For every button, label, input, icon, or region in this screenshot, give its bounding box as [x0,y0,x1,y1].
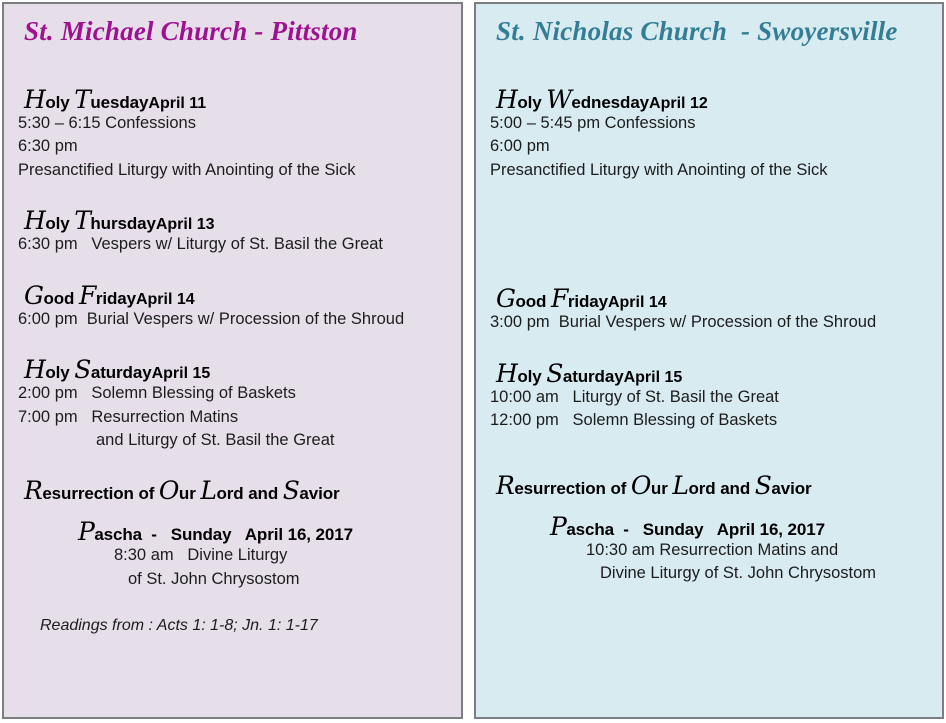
church-title-st-nicholas: St. Nicholas Church - Swoyersville [496,16,928,47]
church-panel-st-michael: St. Michael Church - Pittston Holy Tuesd… [2,2,463,719]
heading-resurrection: Resurrection of Our Lord and Savior [18,478,447,503]
spacer [18,47,447,87]
heading-word-and: and [248,484,283,503]
service-block-holy-saturday: Holy SaturdayApril 15 10:00 am Liturgy o… [490,361,928,433]
spacer [18,257,447,283]
church-panel-st-nicholas: St. Nicholas Church - Swoyersville Holy … [474,2,944,719]
heading-capital-2: W [546,85,571,114]
heading-capital: H [24,85,45,114]
service-line: 6:00 pm [490,135,928,158]
heading-pascha-rest: ascha - Sunday April 16, 2017 [94,525,353,544]
heading-rest-r: esurrection [514,479,610,498]
spacer [490,335,928,361]
heading-rest: ood [515,292,550,311]
service-line: 6:30 pm [18,135,447,158]
heading-capital-l: L [672,471,688,500]
heading-rest-l: ord [688,479,720,498]
service-line: 5:30 – 6:15 Confessions [18,112,447,135]
heading-capital-s: S [283,476,300,505]
service-line-continuation: Divine Liturgy of St. John Chrysostom [490,562,928,585]
service-block-holy-wednesday: Holy WednesdayApril 12 5:00 – 5:45 pm Co… [490,87,928,182]
service-block-good-friday: Good FridayApril 14 6:00 pm Burial Vespe… [18,283,447,331]
service-block-holy-saturday: Holy SaturdayApril 15 2:00 pm Solemn Ble… [18,357,447,452]
service-line-continuation: of St. John Chrysostom [18,568,447,591]
heading-capital-2: F [551,284,568,313]
heading-rest: oly [45,93,74,112]
service-line: Presanctified Liturgy with Anointing of … [18,159,447,182]
spacer [18,331,447,357]
day-heading-holy-wednesday: Holy WednesdayApril 12 [490,87,928,112]
heading-capital: H [496,359,517,388]
service-block-holy-thursday: Holy ThursdayApril 13 6:30 pm Vespers w/… [18,208,447,256]
heading-capital-r: R [496,471,514,500]
heading-capital-2: T [74,85,90,114]
heading-rest-2: riday [96,289,136,308]
service-block-good-friday: Good FridayApril 14 3:00 pm Burial Vespe… [490,286,928,334]
day-heading-holy-saturday: Holy SaturdayApril 15 [18,357,447,382]
heading-rest-2: hursday [90,214,155,233]
heading-capital: G [496,284,515,313]
heading-resurrection: Resurrection of Our Lord and Savior [490,473,928,498]
heading-rest-2: aturday [91,363,152,382]
heading-capital-o: O [159,476,179,505]
holy-week-schedule-board: St. Michael Church - Pittston Holy Tuesd… [0,0,946,723]
service-line: 3:00 pm Burial Vespers w/ Procession of … [490,311,928,334]
spacer [18,591,447,617]
heading-word-of: of [138,484,158,503]
service-line: 8:30 am Divine Liturgy [18,544,447,567]
service-line: 6:30 pm Vespers w/ Liturgy of St. Basil … [18,233,447,256]
heading-date: April 13 [156,216,215,233]
heading-pascha-date: Pascha - Sunday April 16, 2017 [18,519,447,544]
service-line: 5:00 – 5:45 pm Confessions [490,112,928,135]
heading-word-of: of [610,479,630,498]
heading-capital-2: T [74,206,90,235]
heading-rest-2: aturday [563,367,624,386]
heading-capital: G [24,281,43,310]
heading-rest-s: avior [771,479,811,498]
heading-capital-2: F [79,281,96,310]
heading-rest-s: avior [299,484,339,503]
heading-rest: oly [45,214,74,233]
heading-date: April 14 [608,294,667,311]
heading-pascha-rest: ascha - Sunday April 16, 2017 [566,520,825,539]
heading-capital: H [24,206,45,235]
service-line: 12:00 pm Solemn Blessing of Baskets [490,409,928,432]
spacer [490,47,928,87]
heading-rest-l: ord [216,484,248,503]
heading-capital-2: S [74,355,91,384]
spacer [18,182,447,208]
service-line: Presanctified Liturgy with Anointing of … [490,159,928,182]
heading-rest-2: uesday [90,93,148,112]
spacer [18,452,447,478]
heading-date: April 15 [152,365,211,382]
heading-capital: H [24,355,45,384]
heading-capital-s: S [755,471,772,500]
heading-capital-2: S [546,359,563,388]
heading-rest-2: riday [568,292,608,311]
day-heading-holy-tuesday: Holy TuesdayApril 11 [18,87,447,112]
heading-date: April 15 [624,369,683,386]
heading-capital-r: R [24,476,42,505]
heading-capital: H [496,85,517,114]
service-block-pascha: Resurrection of Our Lord and Savior Pasc… [18,478,447,591]
heading-capital-l: L [200,476,216,505]
heading-word-and: and [720,479,755,498]
heading-rest-2: ednesday [571,93,649,112]
spacer-blank-gap [490,182,928,286]
day-heading-good-friday: Good FridayApril 14 [18,283,447,308]
heading-date: April 11 [148,95,206,112]
service-line: 10:30 am Resurrection Matins and [490,539,928,562]
heading-capital-p: P [78,517,94,546]
service-line: 10:00 am Liturgy of St. Basil the Great [490,386,928,409]
heading-date: April 14 [136,291,195,308]
service-block-pascha: Resurrection of Our Lord and Savior Pasc… [490,473,928,586]
heading-capital-p: P [550,512,566,541]
day-heading-good-friday: Good FridayApril 14 [490,286,928,311]
heading-rest: oly [517,367,546,386]
service-line: 6:00 pm Burial Vespers w/ Procession of … [18,308,447,331]
heading-capital-o: O [631,471,651,500]
day-heading-holy-thursday: Holy ThursdayApril 13 [18,208,447,233]
heading-rest: ood [43,289,78,308]
heading-rest-o: ur [651,479,672,498]
heading-pascha-date: Pascha - Sunday April 16, 2017 [490,514,928,539]
heading-rest: oly [517,93,546,112]
service-block-holy-tuesday: Holy TuesdayApril 11 5:30 – 6:15 Confess… [18,87,447,182]
spacer [490,433,928,473]
church-title-st-michael: St. Michael Church - Pittston [24,16,447,47]
service-line-continuation: and Liturgy of St. Basil the Great [18,429,447,452]
service-line: 2:00 pm Solemn Blessing of Baskets [18,382,447,405]
readings-note: Readings from : Acts 1: 1-8; Jn. 1: 1-17 [18,617,447,635]
heading-date: April 12 [649,95,708,112]
day-heading-holy-saturday: Holy SaturdayApril 15 [490,361,928,386]
heading-rest: oly [45,363,74,382]
heading-rest-r: esurrection [42,484,138,503]
heading-rest-o: ur [179,484,200,503]
service-line: 7:00 pm Resurrection Matins [18,406,447,429]
